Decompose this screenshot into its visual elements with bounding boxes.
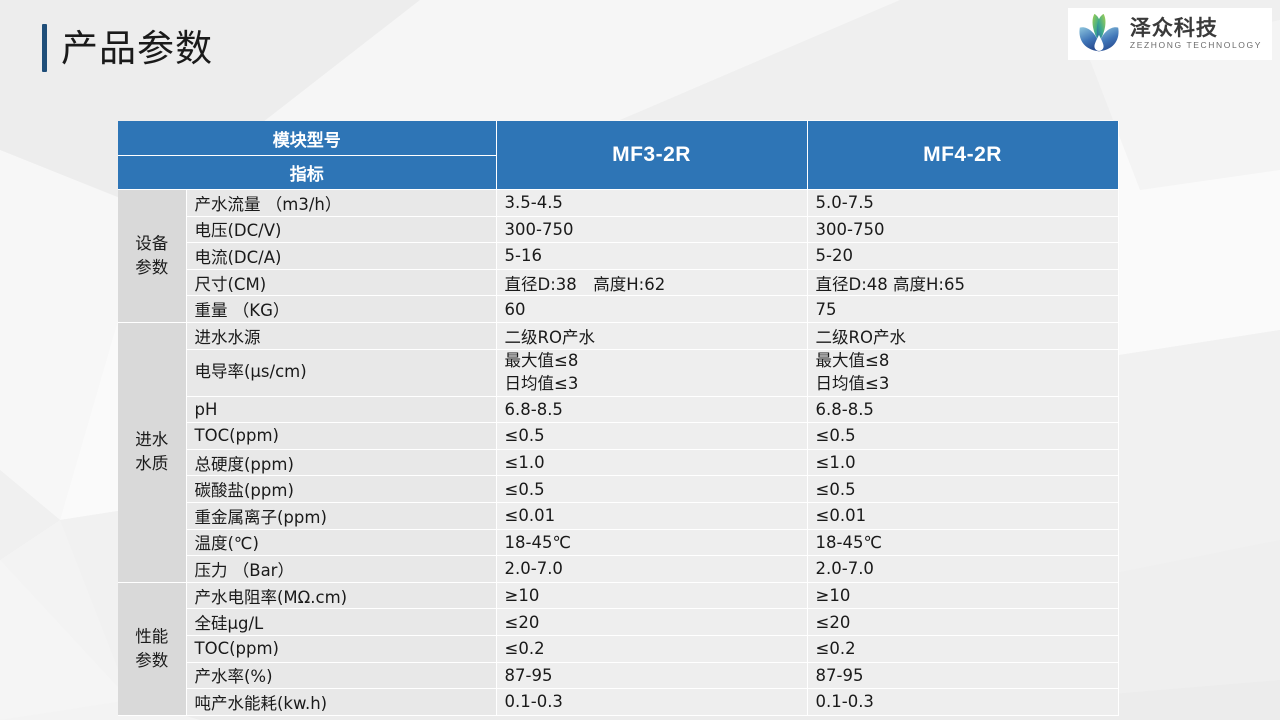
table-row: 电压(DC/V) 300-750 300-750 (118, 216, 1118, 243)
row-item-label: 电压(DC/V) (186, 216, 496, 243)
row-value-mf4: 6.8-8.5 (807, 396, 1118, 423)
table-row: 进水 水质 进水水源 二级RO产水 二级RO产水 (118, 322, 1118, 349)
logo-name-cn: 泽众科技 (1130, 17, 1262, 39)
section-label-equipment: 设备 参数 (118, 190, 186, 323)
section-label-line: 性能 (135, 627, 168, 646)
header-column-mf4: MF4-2R (807, 121, 1118, 190)
table-row: 设备 参数 产水流量 （m3/h） 3.5-4.5 5.0-7.5 (118, 190, 1118, 217)
row-value-mf3: ≤0.5 (496, 476, 807, 503)
row-value-mf4: 75 (807, 296, 1118, 323)
section-label-line: 设备 (135, 234, 168, 253)
row-value-mf4: ≤0.2 (807, 635, 1118, 662)
row-item-label: 碳酸盐(ppm) (186, 476, 496, 503)
row-value-mf3: 2.0-7.0 (496, 556, 807, 583)
table-row: 重量 （KG） 60 75 (118, 296, 1118, 323)
row-item-label: 进水水源 (186, 322, 496, 349)
row-value-mf3: 最大值≤8 日均值≤3 (496, 349, 807, 396)
title-text: 产品参数 (61, 30, 213, 67)
row-item-label: 电导率(μs/cm) (186, 349, 496, 396)
table-row: pH 6.8-8.5 6.8-8.5 (118, 396, 1118, 423)
value-line: 日均值≤3 (816, 373, 1118, 395)
header-column-mf3: MF3-2R (496, 121, 807, 190)
row-item-label: 全硅μg/L (186, 609, 496, 636)
row-value-mf4: ≤0.5 (807, 476, 1118, 503)
row-value-mf4: ≤0.5 (807, 423, 1118, 450)
logo-leaf-drop-icon (1076, 13, 1122, 55)
row-value-mf3: 6.8-8.5 (496, 396, 807, 423)
row-value-mf3: ≤0.2 (496, 635, 807, 662)
header-index-label: 指标 (118, 156, 496, 190)
row-item-label: 重量 （KG） (186, 296, 496, 323)
table-row: 电导率(μs/cm) 最大值≤8 日均值≤3 最大值≤8 日均值≤3 (118, 349, 1118, 396)
row-value-mf4: 2.0-7.0 (807, 556, 1118, 583)
row-value-mf3: ≥10 (496, 582, 807, 609)
table-header-row-1: 模块型号 MF3-2R MF4-2R (118, 121, 1118, 156)
row-value-mf3: 二级RO产水 (496, 322, 807, 349)
table-row: TOC(ppm) ≤0.5 ≤0.5 (118, 423, 1118, 450)
row-value-mf4: 0.1-0.3 (807, 689, 1118, 716)
table-row: 产水率(%) 87-95 87-95 (118, 662, 1118, 689)
row-value-mf4: ≤20 (807, 609, 1118, 636)
table-row: TOC(ppm) ≤0.2 ≤0.2 (118, 635, 1118, 662)
row-item-label: pH (186, 396, 496, 423)
row-value-mf4: 最大值≤8 日均值≤3 (807, 349, 1118, 396)
page-title: 产品参数 (42, 24, 213, 72)
row-item-label: TOC(ppm) (186, 635, 496, 662)
table-row: 碳酸盐(ppm) ≤0.5 ≤0.5 (118, 476, 1118, 503)
row-value-mf4: 87-95 (807, 662, 1118, 689)
row-value-mf3: 300-750 (496, 216, 807, 243)
row-item-label: 总硬度(ppm) (186, 449, 496, 476)
row-value-mf4: 直径D:48 高度H:65 (807, 269, 1118, 296)
table-row: 重金属离子(ppm) ≤0.01 ≤0.01 (118, 502, 1118, 529)
row-value-mf4: 18-45℃ (807, 529, 1118, 556)
row-item-label: TOC(ppm) (186, 423, 496, 450)
product-spec-table: 模块型号 MF3-2R MF4-2R 指标 设备 参数 产水流量 （m3/h） … (118, 121, 1119, 716)
row-item-label: 温度(℃) (186, 529, 496, 556)
table-row: 吨产水能耗(kw.h) 0.1-0.3 0.1-0.3 (118, 689, 1118, 716)
section-label-line: 进水 (135, 430, 168, 449)
section-label-performance: 性能 参数 (118, 582, 186, 715)
row-item-label: 产水率(%) (186, 662, 496, 689)
row-item-label: 产水电阻率(MΩ.cm) (186, 582, 496, 609)
row-value-mf4: 5-20 (807, 243, 1118, 270)
value-line: 最大值≤8 (505, 350, 807, 372)
spec-table-container: 模块型号 MF3-2R MF4-2R 指标 设备 参数 产水流量 （m3/h） … (118, 121, 1118, 716)
title-accent-bar (42, 24, 47, 72)
row-value-mf3: 5-16 (496, 243, 807, 270)
logo-name-en: ZEZHONG TECHNOLOGY (1130, 40, 1262, 51)
row-value-mf4: ≥10 (807, 582, 1118, 609)
table-row: 温度(℃) 18-45℃ 18-45℃ (118, 529, 1118, 556)
row-value-mf4: 5.0-7.5 (807, 190, 1118, 217)
table-row: 电流(DC/A) 5-16 5-20 (118, 243, 1118, 270)
row-value-mf3: 87-95 (496, 662, 807, 689)
row-value-mf4: ≤1.0 (807, 449, 1118, 476)
row-value-mf3: ≤0.01 (496, 502, 807, 529)
section-label-feedwater: 进水 水质 (118, 322, 186, 582)
row-item-label: 尺寸(CM) (186, 269, 496, 296)
row-item-label: 电流(DC/A) (186, 243, 496, 270)
row-value-mf3: ≤20 (496, 609, 807, 636)
table-row: 总硬度(ppm) ≤1.0 ≤1.0 (118, 449, 1118, 476)
table-row: 尺寸(CM) 直径D:38 高度H:62 直径D:48 高度H:65 (118, 269, 1118, 296)
row-value-mf4: 二级RO产水 (807, 322, 1118, 349)
row-item-label: 吨产水能耗(kw.h) (186, 689, 496, 716)
row-value-mf4: ≤0.01 (807, 502, 1118, 529)
row-value-mf3: 18-45℃ (496, 529, 807, 556)
row-value-mf3: 60 (496, 296, 807, 323)
section-label-line: 参数 (135, 651, 168, 670)
row-item-label: 压力 （Bar） (186, 556, 496, 583)
row-value-mf3: ≤1.0 (496, 449, 807, 476)
table-row: 性能 参数 产水电阻率(MΩ.cm) ≥10 ≥10 (118, 582, 1118, 609)
company-logo: 泽众科技 ZEZHONG TECHNOLOGY (1068, 8, 1272, 60)
row-value-mf3: ≤0.5 (496, 423, 807, 450)
row-value-mf4: 300-750 (807, 216, 1118, 243)
table-row: 压力 （Bar） 2.0-7.0 2.0-7.0 (118, 556, 1118, 583)
section-label-line: 参数 (135, 258, 168, 277)
row-value-mf3: 直径D:38 高度H:62 (496, 269, 807, 296)
table-row: 全硅μg/L ≤20 ≤20 (118, 609, 1118, 636)
section-label-line: 水质 (135, 454, 168, 473)
row-value-mf3: 3.5-4.5 (496, 190, 807, 217)
value-line: 最大值≤8 (816, 350, 1118, 372)
row-item-label: 产水流量 （m3/h） (186, 190, 496, 217)
row-value-mf3: 0.1-0.3 (496, 689, 807, 716)
row-item-label: 重金属离子(ppm) (186, 502, 496, 529)
value-line: 日均值≤3 (505, 373, 807, 395)
logo-text: 泽众科技 ZEZHONG TECHNOLOGY (1130, 17, 1262, 50)
header-model-label: 模块型号 (118, 121, 496, 156)
